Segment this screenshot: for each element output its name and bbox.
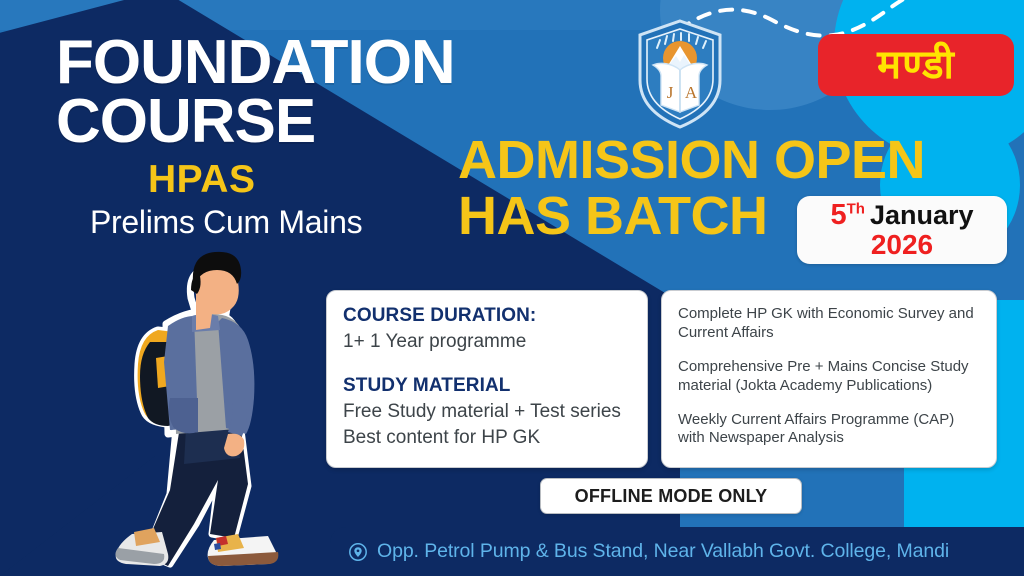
logo-letter-a: A — [685, 83, 698, 102]
batch-date-day: 5Th — [830, 201, 864, 230]
batch-date-badge: 5Th January 2026 — [797, 196, 1007, 264]
logo-letter-j: J — [667, 83, 674, 102]
location-pin-icon — [348, 542, 368, 562]
course-details-card: COURSE DURATION: 1+ 1 Year programme STU… — [326, 290, 648, 468]
location-badge: मण्डी — [818, 34, 1014, 96]
offline-mode-badge: OFFLINE MODE ONLY — [540, 478, 802, 514]
features-card: Complete HP GK with Economic Survey and … — [661, 290, 997, 468]
batch-date-year: 2026 — [871, 230, 933, 259]
course-duration-heading: COURSE DURATION: — [343, 305, 631, 327]
promotional-banner: FOUNDATION COURSE HPAS Prelims Cum Mains… — [0, 0, 1024, 576]
headline-line-1: FOUNDATION — [56, 34, 576, 91]
address-text: Opp. Petrol Pump & Bus Stand, Near Valla… — [377, 540, 949, 563]
feature-item: Complete HP GK with Economic Survey and … — [678, 305, 982, 343]
batch-date-month: January — [870, 202, 974, 229]
student-illustration — [96, 238, 306, 576]
batch-date-day-suffix: Th — [847, 200, 865, 217]
admission-line-1: ADMISSION OPEN — [458, 134, 1018, 186]
study-material-line-2: Best content for HP GK — [343, 427, 631, 449]
offline-mode-label: OFFLINE MODE ONLY — [575, 486, 768, 507]
feature-item: Weekly Current Affairs Programme (CAP) w… — [678, 411, 982, 449]
study-material-line-1: Free Study material + Test series — [343, 401, 631, 423]
jokta-academy-logo: J A — [634, 18, 726, 130]
feature-item: Comprehensive Pre + Mains Concise Study … — [678, 358, 982, 396]
course-duration-value: 1+ 1 Year programme — [343, 331, 631, 353]
address-bar: Opp. Petrol Pump & Bus Stand, Near Valla… — [330, 527, 1024, 576]
location-badge-label: मण्डी — [877, 45, 955, 85]
study-material-heading: STUDY MATERIAL — [343, 375, 631, 397]
